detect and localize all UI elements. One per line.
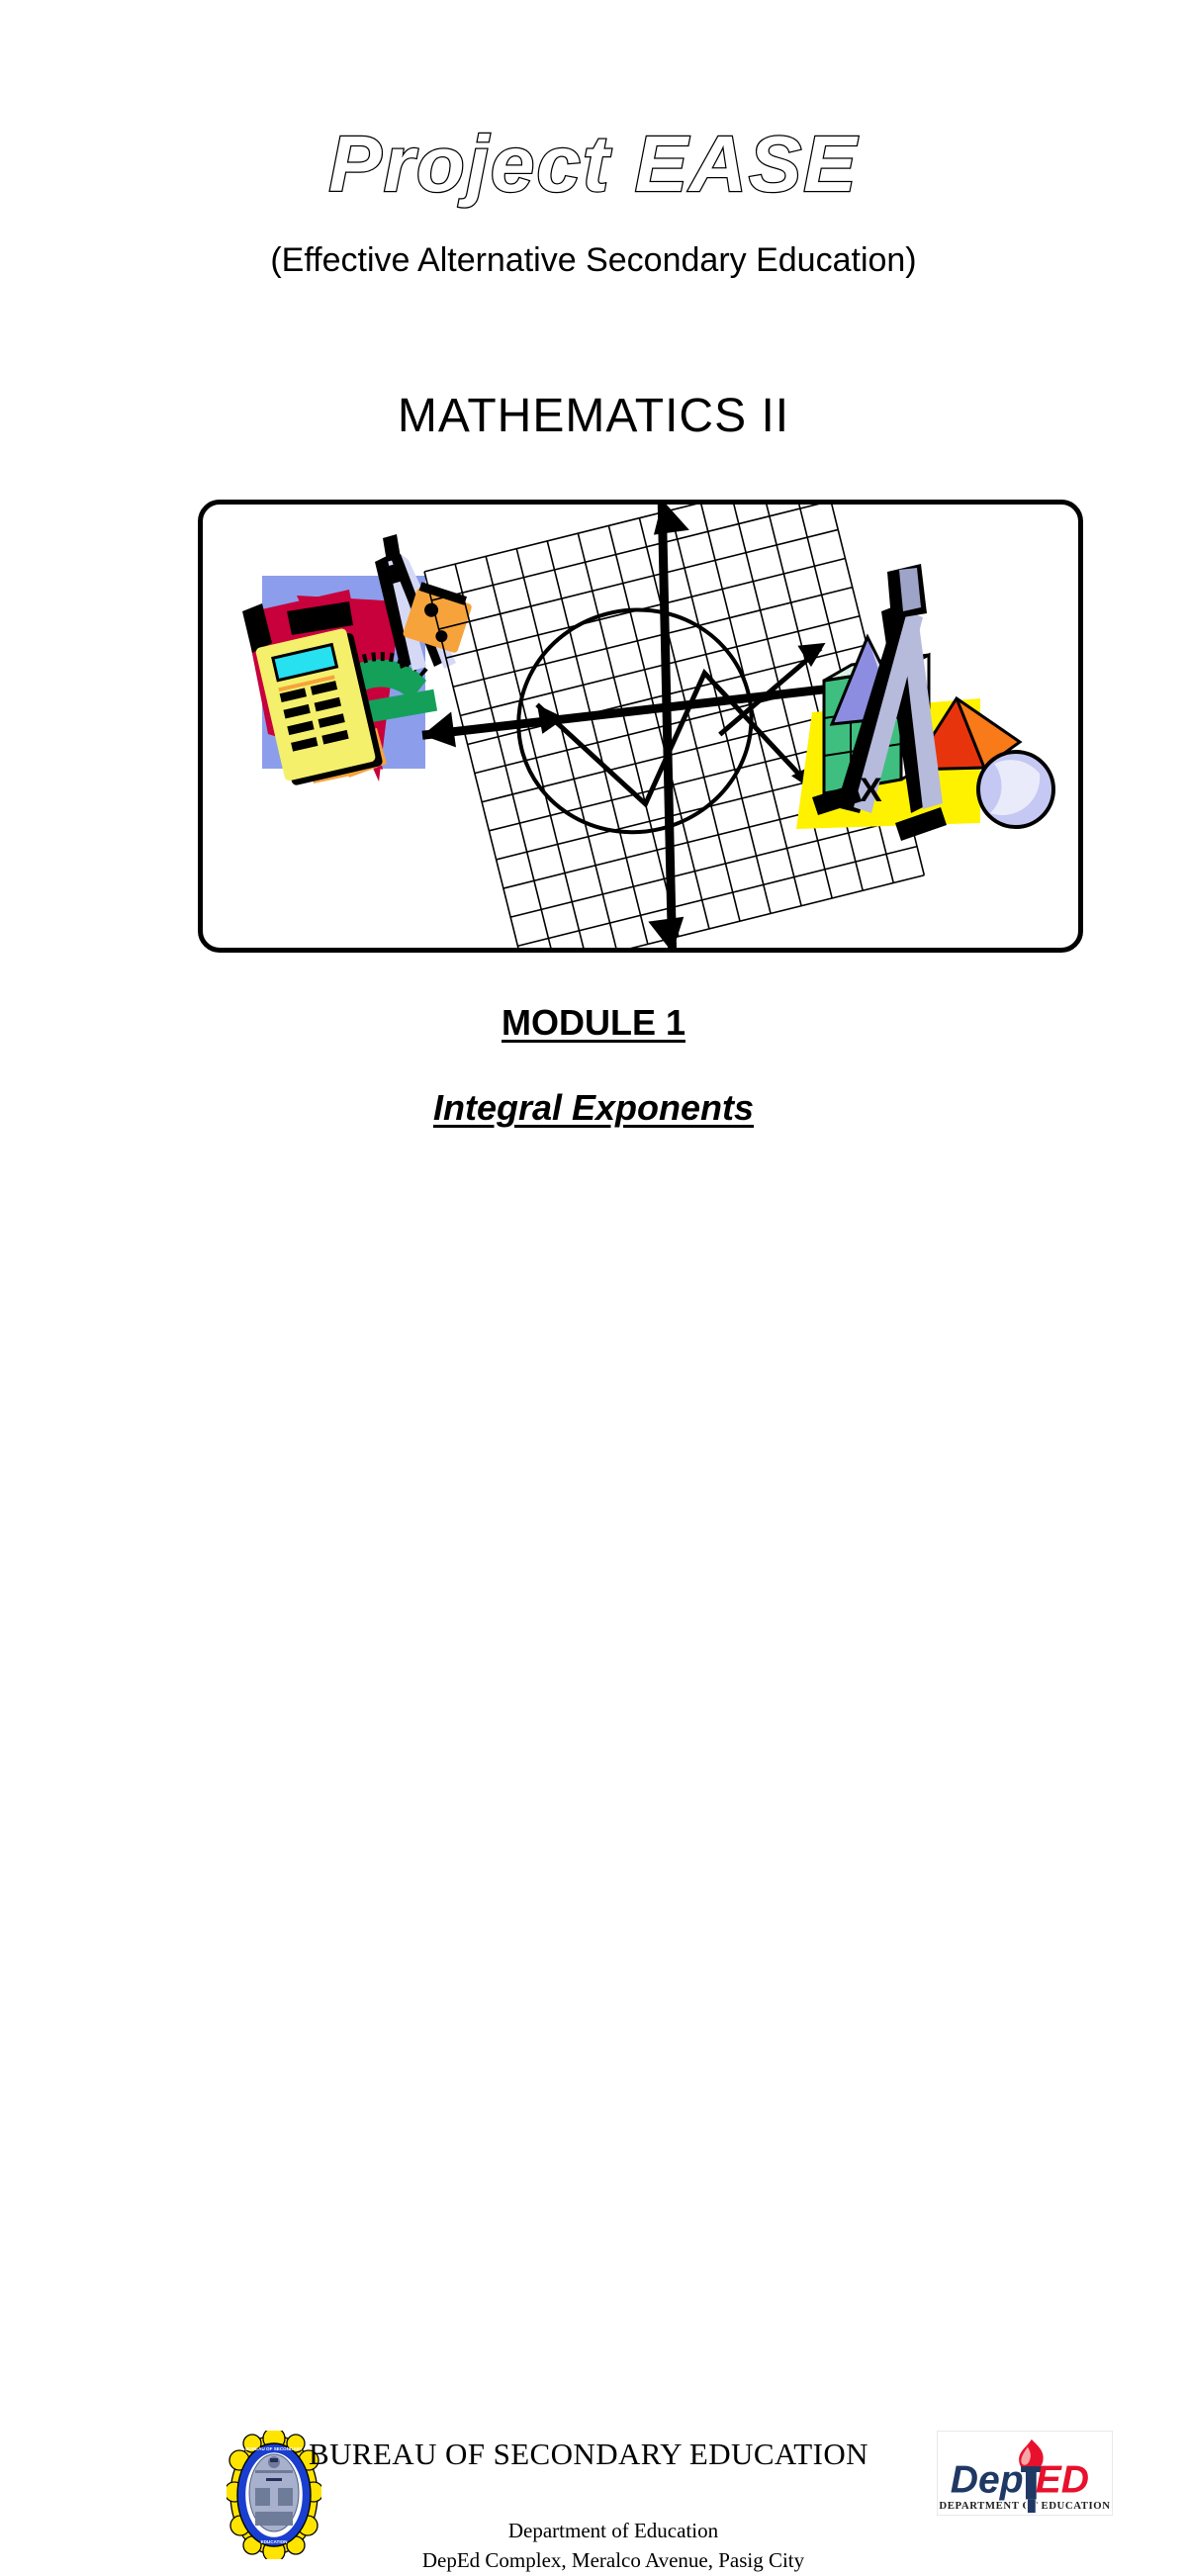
svg-text:BUREAU OF SECONDARY: BUREAU OF SECONDARY [245, 2446, 303, 2451]
module-topic: Integral Exponents [0, 1088, 1187, 1128]
subject-title: MATHEMATICS II [0, 391, 1187, 443]
address-line: DepEd Complex, Meralco Avenue, Pasig Cit… [326, 2545, 900, 2575]
cover-page: Project EASE (Effective Alternative Seco… [0, 0, 1187, 1536]
project-brand-subtitle: (Effective Alternative Secondary Educati… [0, 241, 1187, 280]
page-footer: BUREAU OF SECONDARY EDUCATION BUREAU OF … [0, 1212, 1187, 1390]
bse-seal-logo: BUREAU OF SECONDARY EDUCATION [227, 2431, 321, 2559]
deped-word-dep: Dep [951, 2459, 1024, 2502]
module-label: MODULE 1 [0, 1003, 1187, 1043]
module-label-text: MODULE 1 [502, 1002, 685, 1043]
deped-logo-icon: Dep ED DEPARTMENT OF EDUCATION [938, 2432, 1112, 2515]
bureau-name: BUREAU OF SECONDARY EDUCATION [309, 2437, 868, 2472]
axis-label-x: X [860, 772, 882, 809]
cover-illustration-frame: y [198, 500, 1083, 953]
bse-seal-icon: BUREAU OF SECONDARY EDUCATION [227, 2431, 321, 2559]
project-brand-title: Project EASE [0, 125, 1187, 204]
deped-tagline: DEPARTMENT OF EDUCATION [939, 2500, 1110, 2512]
deped-logo: Dep ED DEPARTMENT OF EDUCATION [937, 2431, 1113, 2516]
deped-word-ed: ED [1036, 2459, 1089, 2502]
department-address-block: Department of Education DepEd Complex, M… [326, 2516, 900, 2576]
mathematics-clipart-icon: y [203, 505, 1078, 948]
svg-text:EDUCATION: EDUCATION [261, 2539, 289, 2544]
module-topic-text: Integral Exponents [433, 1087, 754, 1128]
department-line: Department of Education [326, 2516, 900, 2545]
